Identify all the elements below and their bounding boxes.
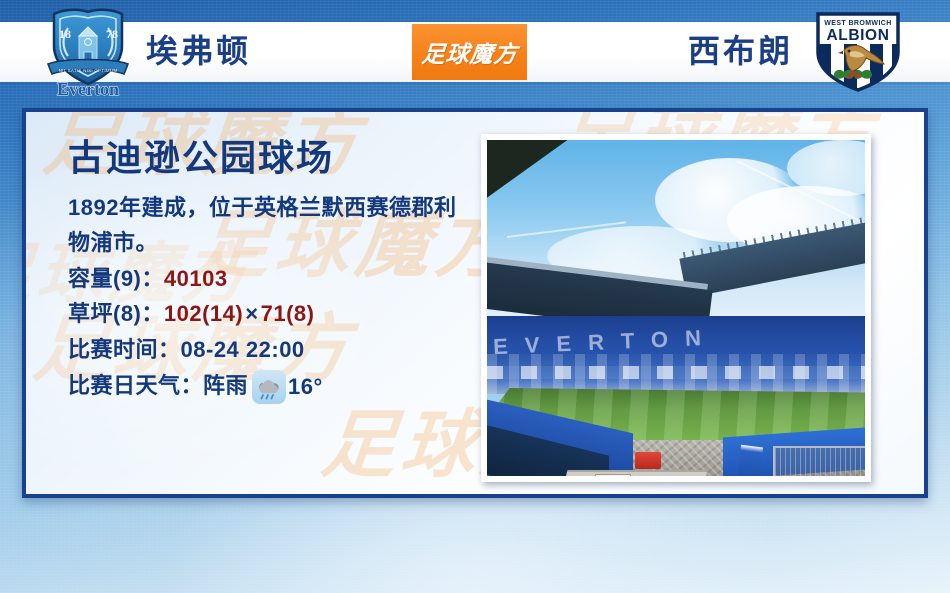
photo-seating-white-row (487, 366, 865, 379)
match-time-label: 比赛时间： (68, 337, 181, 362)
svg-text:ALBION: ALBION (826, 27, 889, 44)
weather-inline-group: 16° (248, 369, 323, 405)
svg-text:WEST BROMWICH: WEST BROMWICH (824, 20, 891, 27)
svg-text:Everton: Everton (57, 79, 119, 98)
stadium-title: 古迪逊公园球场 (68, 138, 498, 178)
away-team-name: 西布朗 (688, 26, 793, 72)
photo-blue-sign (737, 445, 763, 476)
screenshot-root: 18 78 NIL SATIS NISI OPTIMUM Everton 埃弗顿… (0, 0, 950, 593)
capacity-value: 40103 (164, 266, 228, 291)
stadium-info-panel: 足球魔方 足球魔方 足球魔方 足球魔方 足球魔方 足球魔方 古迪逊公园球场 18… (22, 108, 928, 498)
pitch-length-value: 102(14) (164, 301, 243, 326)
stadium-description: 1892年建成，位于英格兰默西赛德郡利物浦市。 (68, 190, 468, 261)
weather-temperature: 16° (288, 369, 323, 405)
svg-text:18: 18 (59, 27, 71, 41)
weather-condition: 阵雨 (203, 373, 248, 398)
brand-logo-text: 足球魔方 (420, 35, 519, 69)
everton-crest: 18 78 NIL SATIS NISI OPTIMUM Everton (38, 6, 138, 98)
photo-red-equipment-box (635, 452, 661, 469)
brand-logo[interactable]: 足球魔方 (412, 24, 527, 80)
pitch-label: 草坪(8)： (68, 301, 164, 326)
stadium-photo-frame: EVERTON B (481, 134, 871, 482)
stadium-info-column: 古迪逊公园球场 1892年建成，位于英格兰默西赛德郡利物浦市。 容量(9)：40… (68, 138, 498, 405)
match-time-value: 08-24 22:00 (181, 337, 305, 362)
rain-shower-icon (252, 370, 286, 404)
pitch-row: 草坪(8)：102(14)×71(8) (68, 296, 498, 332)
photo-metal-railing (773, 446, 865, 476)
weather-row: 比赛日天气：阵雨16° (68, 368, 498, 405)
weather-label: 比赛日天气： (68, 373, 203, 398)
capacity-label: 容量(9)： (68, 266, 164, 291)
pitch-width-value: 71(8) (261, 301, 315, 326)
svg-text:NIL SATIS NISI OPTIMUM: NIL SATIS NISI OPTIMUM (59, 68, 118, 73)
match-time-row: 比赛时间：08-24 22:00 (68, 332, 498, 368)
svg-text:78: 78 (106, 27, 118, 41)
capacity-row: 容量(9)：40103 (68, 261, 498, 297)
goodison-park-photo: EVERTON B (487, 140, 865, 476)
pitch-times-symbol: × (243, 301, 260, 326)
photo-notice-placard (595, 474, 631, 476)
photo-concrete-steps (563, 470, 708, 476)
home-team-name: 埃弗顿 (146, 26, 251, 72)
west-bromwich-albion-crest: WEST BROMWICH ALBION (810, 6, 906, 94)
